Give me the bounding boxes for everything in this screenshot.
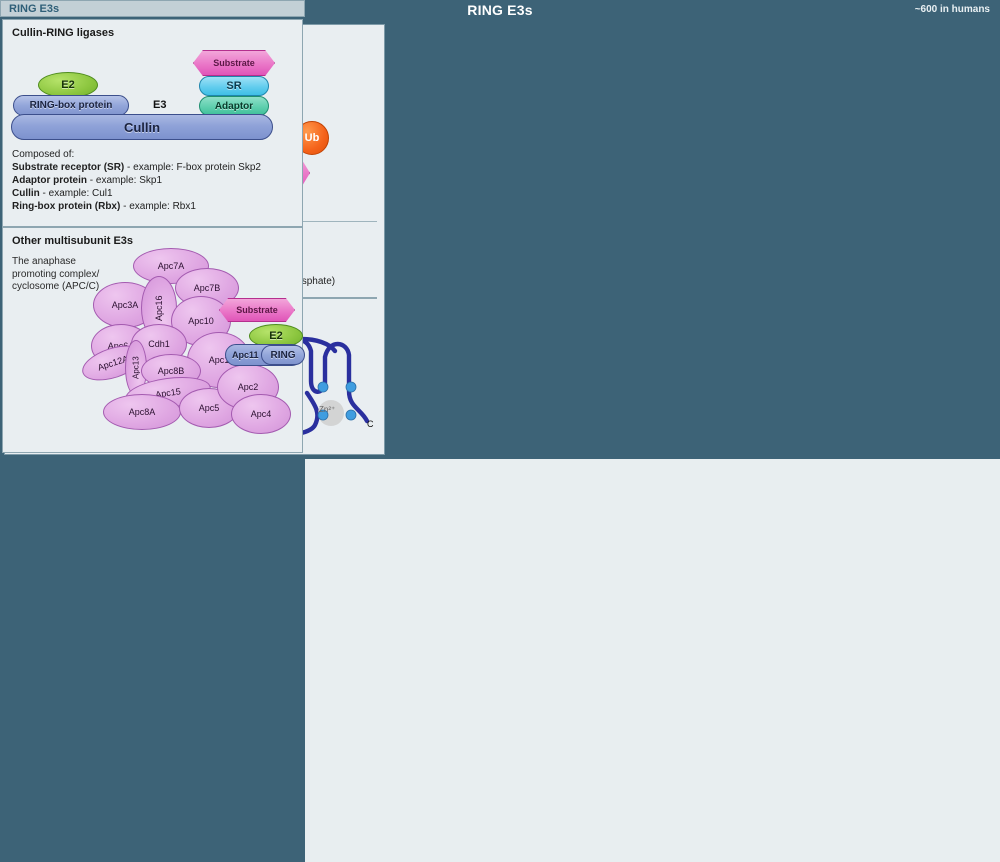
e3-label: E3 xyxy=(153,99,166,111)
composed-item-sr: Substrate receptor (SR) - example: F-box… xyxy=(12,161,261,174)
composed-item-cullin: Cullin - example: Cul1 xyxy=(12,187,113,200)
sr-name: Substrate receptor (SR) xyxy=(12,162,124,173)
c-terminus-label: C xyxy=(367,419,374,429)
substrate-hexagon: Substrate xyxy=(219,298,295,322)
substrate-label: Substrate xyxy=(219,298,295,322)
ring-capsule: RING xyxy=(261,345,305,365)
cullin-name: Cullin xyxy=(12,188,40,199)
figure-root: RING E3s ~600 in humans Ubiquitin transf… xyxy=(0,0,1000,459)
ring-e3s-band: RING E3s xyxy=(0,0,305,17)
cullin-bar: Cullin xyxy=(11,114,273,140)
sr-example: - example: F-box protein Skp2 xyxy=(124,162,261,173)
zinc-ion-2-label: Zn²⁺ xyxy=(319,405,335,414)
substrate-hexagon: Substrate xyxy=(193,50,275,76)
apc-subunit-apc8a: Apc8A xyxy=(103,394,181,430)
composed-intro: Composed of: xyxy=(12,148,74,161)
card-cullin-ring-ligases: Cullin-RING ligases Substrate SR Adaptor… xyxy=(2,19,303,227)
apc-subunit-apc4: Apc4 xyxy=(231,394,291,434)
adaptor-example: - example: Skp1 xyxy=(87,175,162,186)
composed-item-adaptor: Adaptor protein - example: Skp1 xyxy=(12,174,162,187)
adaptor-name: Adaptor protein xyxy=(12,175,87,186)
crl-title: Cullin-RING ligases xyxy=(12,27,114,39)
cullin-example: - example: Cul1 xyxy=(40,188,113,199)
right-panel: RING E3s Cullin-RING ligases Substrate S… xyxy=(0,431,305,862)
ring-box-protein-capsule: RING-box protein xyxy=(13,95,129,116)
substrate-receptor-shape: SR xyxy=(199,76,269,96)
rbx-example: - example: Rbx1 xyxy=(120,201,196,212)
header-note: ~600 in humans xyxy=(915,4,990,15)
rbx-name: Ring-box protein (Rbx) xyxy=(12,201,120,212)
card-other-multisubunit-e3s: Other multisubunit E3s The anaphase prom… xyxy=(2,227,303,453)
apc-complex-diagram: Apc7A Apc7B Apc3A Apc16 Apc10 Apc6A Cdh1… xyxy=(83,242,303,452)
composed-item-rbx: Ring-box protein (Rbx) - example: Rbx1 xyxy=(12,200,196,213)
adaptor-shape: Adaptor xyxy=(199,96,269,116)
substrate-label: Substrate xyxy=(193,50,275,76)
